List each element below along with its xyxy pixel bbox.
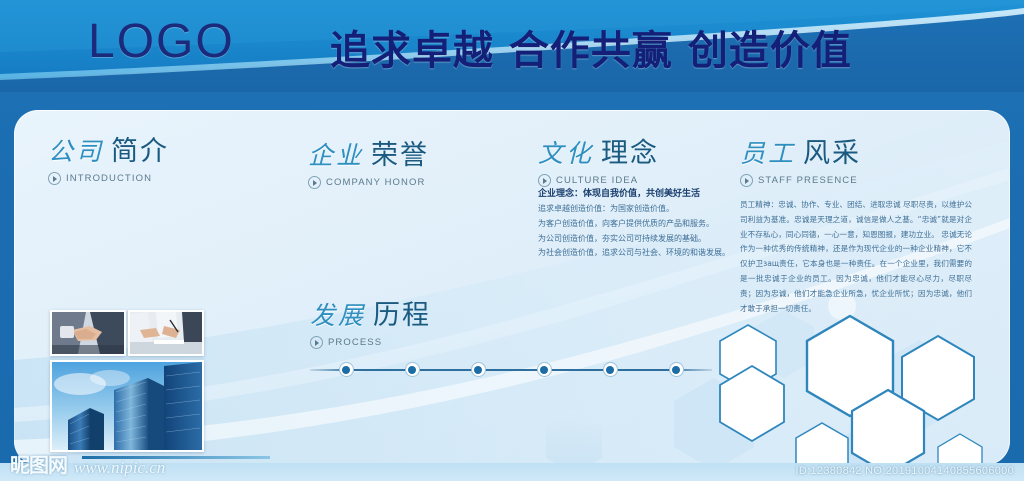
timeline-dot-1[interactable] xyxy=(340,363,353,376)
signing-photo-image xyxy=(130,312,202,354)
honor-title-en: COMPANY HONOR xyxy=(326,177,425,188)
honor-title-en-wrap: COMPANY HONOR xyxy=(308,176,429,189)
hexagon-6[interactable] xyxy=(796,423,848,465)
culture-title-cn: 文化理念 xyxy=(538,140,659,167)
honor-title-cn: 企业荣誉 xyxy=(308,142,429,169)
process-title-en-wrap: PROCESS xyxy=(310,336,431,349)
handshake-photo[interactable] xyxy=(50,310,126,356)
staff-title-solid: 风采 xyxy=(803,138,861,169)
process-title-solid: 历程 xyxy=(373,300,431,331)
timeline-dot-2[interactable] xyxy=(406,363,419,376)
play-icon xyxy=(310,336,323,349)
staff-title-cn: 员工风采 xyxy=(740,140,861,167)
header-slogan: 追求卓越 合作共赢 创造价值 xyxy=(330,18,852,76)
signing-illustration xyxy=(130,312,202,354)
signing-photo[interactable] xyxy=(128,310,204,356)
process-title-en: PROCESS xyxy=(328,337,382,348)
skyscraper-illustration xyxy=(52,362,202,450)
content-panel: 公司简介 INTRODUCTION 企业荣誉 COMPANY HONOR 文化理… xyxy=(14,110,1010,465)
section-heading-staff: 员工风采 STAFF PRESENCE xyxy=(740,140,861,187)
timeline-dot-5[interactable] xyxy=(604,363,617,376)
process-title-cn: 发展历程 xyxy=(310,302,431,329)
process-title-brush: 发展 xyxy=(310,301,366,330)
staff-title-en: STAFF PRESENCE xyxy=(758,175,858,186)
staff-title-en-wrap: STAFF PRESENCE xyxy=(740,174,861,187)
timeline-dot-6[interactable] xyxy=(670,363,683,376)
play-icon xyxy=(308,176,321,189)
introduction-title-solid: 简介 xyxy=(111,136,169,167)
hexagon-cluster xyxy=(710,298,1010,465)
skyscraper-photo[interactable] xyxy=(50,360,204,452)
watermark-cn: 昵图网 xyxy=(10,449,67,478)
honor-title-solid: 荣誉 xyxy=(371,140,429,171)
timeline-dot-3[interactable] xyxy=(472,363,485,376)
play-icon xyxy=(48,172,61,185)
section-heading-introduction: 公司简介 INTRODUCTION xyxy=(48,138,169,185)
image-id-no: ID:12380842 NO:20191004140855606000 xyxy=(796,465,1014,477)
section-heading-process: 发展历程 PROCESS xyxy=(310,302,431,349)
watermark: 昵图网 www.nipic.cn xyxy=(10,449,165,478)
culture-body-text: 追求卓越创造价值：为国家创造价值。 为客户创造价值，向客户提供优质的产品和服务。… xyxy=(538,202,754,261)
section-heading-honor: 企业荣誉 COMPANY HONOR xyxy=(308,142,429,189)
introduction-title-cn: 公司简介 xyxy=(48,138,169,165)
poster-header: LOGO 追求卓越 合作共赢 创造价值 xyxy=(0,0,1024,92)
handshake-illustration xyxy=(52,312,124,354)
introduction-title-en-wrap: INTRODUCTION xyxy=(48,172,169,185)
process-timeline[interactable] xyxy=(310,363,712,377)
watermark-url: www.nipic.cn xyxy=(74,458,165,478)
play-icon xyxy=(740,174,753,187)
introduction-title-en: INTRODUCTION xyxy=(66,173,152,184)
poster-canvas: LOGO 追求卓越 合作共赢 创造价值 xyxy=(0,0,1024,481)
culture-title-brush: 文化 xyxy=(538,139,594,168)
timeline-axis xyxy=(310,369,712,371)
staff-title-brush: 员工 xyxy=(740,139,796,168)
handshake-photo-image xyxy=(52,312,124,354)
section-heading-culture: 文化理念 CULTURE IDEA xyxy=(538,140,659,187)
skyscraper-photo-image xyxy=(52,362,202,450)
logo-text: LOGO xyxy=(88,14,235,69)
culture-subtitle: 企业理念：体现自我价值，共创美好生活 xyxy=(538,186,700,199)
timeline-dot-4[interactable] xyxy=(538,363,551,376)
honor-title-brush: 企业 xyxy=(308,141,364,170)
hexagon-7[interactable] xyxy=(938,434,982,465)
introduction-title-brush: 公司 xyxy=(48,137,104,166)
culture-title-solid: 理念 xyxy=(601,138,659,169)
culture-title-en: CULTURE IDEA xyxy=(556,175,638,186)
